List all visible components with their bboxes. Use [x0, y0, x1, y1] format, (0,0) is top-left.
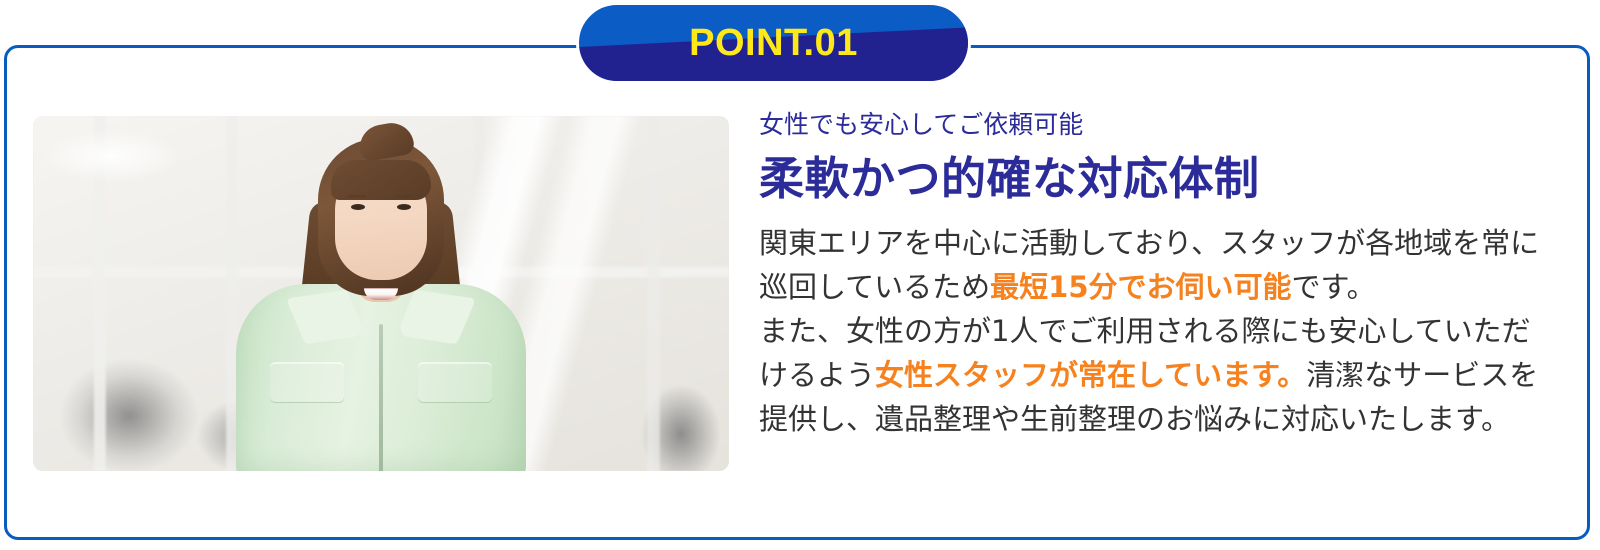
page-title: 柔軟かつ的確な対応体制 — [759, 152, 1559, 205]
photo-eyebrow-left — [348, 195, 366, 198]
body-paragraph: 関東エリアを中心に活動しており、スタッフが各地域を常に巡回しているため最短15分… — [759, 221, 1559, 441]
point-badge: POINT.01 — [576, 2, 971, 84]
body-segment-2: です。 — [1292, 270, 1376, 304]
highlight-female-staff: 女性スタッフが常在しています。 — [875, 358, 1306, 392]
photo-pocket-right — [418, 362, 492, 402]
photo-jacket — [236, 284, 526, 471]
photo-eye-left — [351, 204, 365, 210]
photo-bangs — [331, 160, 431, 200]
eyebrow-text: 女性でも安心してご依頼可能 — [759, 110, 1559, 140]
photo-collar-left — [286, 290, 366, 344]
photo-pocket-left — [270, 362, 344, 402]
highlight-fastest-15min: 最短15分でお伺い可能 — [990, 270, 1291, 304]
point-text-column: 女性でも安心してご依頼可能 柔軟かつ的確な対応体制 関東エリアを中心に活動してお… — [759, 110, 1559, 441]
point-card: 女性でも安心してご依頼可能 柔軟かつ的確な対応体制 関東エリアを中心に活動してお… — [4, 45, 1590, 540]
point-card-stage: 女性でも安心してご依頼可能 柔軟かつ的確な対応体制 関東エリアを中心に活動してお… — [0, 0, 1600, 550]
badge-label: POINT.01 — [579, 5, 968, 81]
photo-eye-right — [397, 204, 411, 210]
staff-photo — [33, 116, 729, 471]
photo-zipper — [379, 324, 383, 471]
photo-collar-right — [396, 290, 476, 344]
photo-eyebrow-right — [396, 195, 414, 198]
